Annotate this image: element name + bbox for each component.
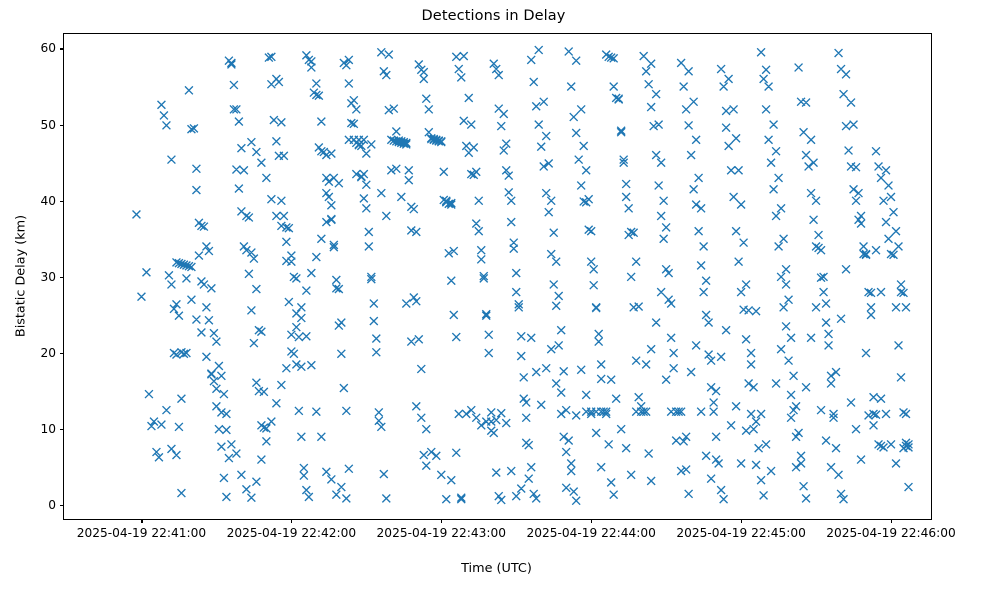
y-tick-0 <box>60 505 64 506</box>
y-axis-label-container: Bistatic Delay (km) <box>13 33 29 518</box>
x-tick-5 <box>891 519 892 523</box>
y-tick-label-1: 10 <box>40 422 56 436</box>
y-tick-1 <box>60 429 64 430</box>
y-tick-label-4: 40 <box>40 194 56 208</box>
y-tick-label-3: 30 <box>40 270 56 284</box>
x-tick-3 <box>591 519 592 523</box>
x-tick-label-2: 2025-04-19 22:43:00 <box>377 526 506 540</box>
scatter-markers <box>64 34 931 519</box>
x-tick-1 <box>291 519 292 523</box>
y-tick-label-6: 60 <box>40 41 56 55</box>
y-tick-6 <box>60 48 64 49</box>
scatter-plot-area <box>64 34 931 519</box>
x-tick-label-3: 2025-04-19 22:44:00 <box>526 526 655 540</box>
x-tick-2 <box>441 519 442 523</box>
y-tick-5 <box>60 125 64 126</box>
x-tick-label-0: 2025-04-19 22:41:00 <box>77 526 206 540</box>
x-tick-4 <box>741 519 742 523</box>
y-tick-label-5: 50 <box>40 118 56 132</box>
x-tick-0 <box>141 519 142 523</box>
marker-group <box>133 46 913 505</box>
matplotlib-figure: Detections in Delay Bistatic Delay (km) … <box>0 0 987 590</box>
x-tick-label-1: 2025-04-19 22:42:00 <box>227 526 356 540</box>
y-tick-2 <box>60 353 64 354</box>
chart-title: Detections in Delay <box>0 8 987 24</box>
plot-axes: 2025-04-19 22:41:002025-04-19 22:42:0020… <box>63 33 932 520</box>
y-tick-3 <box>60 277 64 278</box>
y-tick-label-2: 20 <box>40 346 56 360</box>
y-axis-label: Bistatic Delay (km) <box>14 214 29 336</box>
x-tick-label-5: 2025-04-19 22:46:00 <box>826 526 955 540</box>
x-axis-label: Time (UTC) <box>63 561 930 576</box>
y-tick-4 <box>60 201 64 202</box>
y-tick-label-0: 0 <box>48 498 56 512</box>
x-tick-label-4: 2025-04-19 22:45:00 <box>676 526 805 540</box>
